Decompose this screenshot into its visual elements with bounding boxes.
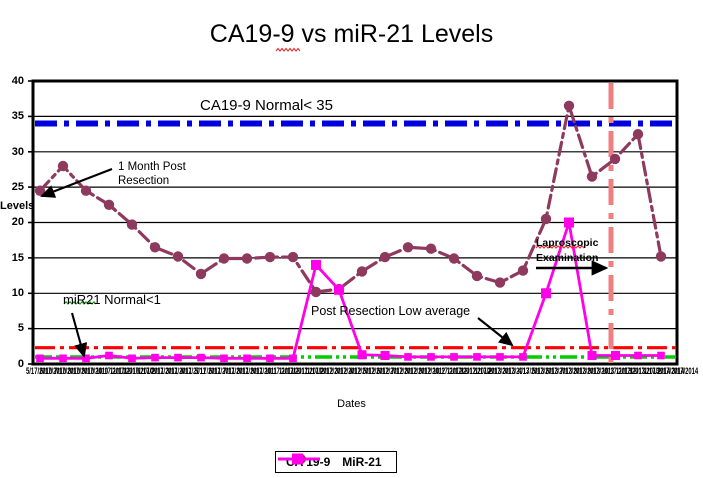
annotation-one-month-post-resection: 1 Month Post Resection [118,160,186,188]
legend-label-mir-21: MiR-21 [342,455,381,469]
annotation-laproscopic-examination: Laproscopic Examination [536,236,598,266]
y-tick-marks [28,81,33,364]
y-tick-label-15: 15 [0,252,24,264]
y-tick-label-40: 40 [0,75,24,87]
x-tick-label: 3/17/2014 [672,366,698,377]
y-tick-label-30: 30 [0,146,24,158]
annotation-one-month-line2: Resection [118,174,186,188]
legend-item-mir-21[interactable]: MiR-21 [338,455,389,469]
chart-container: CA19-9 vs miR-21 Levels [0,0,703,478]
y-tick-label-25: 25 [0,181,24,193]
y-tick-label-20: 20 [0,216,24,228]
annotation-one-month-line1: 1 Month Post [118,160,186,174]
chart-title-text: CA19-9 vs miR-21 Levels [210,20,493,48]
annotation-post-resection-low-average: Post Resection Low average [311,304,470,318]
x-axis-title: Dates [0,398,703,410]
plot-frame [33,81,677,364]
y-tick-label-5: 5 [0,322,24,334]
annotation-arrow-mir21-normal [72,313,84,356]
chart-legend: CA 19-9 MiR-21 [275,451,397,473]
annotation-arrow-one-month-post-resection [42,169,112,196]
legend-swatch-mir-21 [276,452,322,466]
annotation-arrow-post-resection-low-average [478,318,512,345]
annotation-ca19-9-normal: CA19-9 Normal< 35 [200,97,333,114]
y-tick-label-10: 10 [0,287,24,299]
y-tick-label-35: 35 [0,110,24,122]
y-axis-title: Levels [0,200,34,212]
y-tick-label-0: 0 [0,358,24,370]
annotation-mir21-normal: miR21 Normal<1 [63,293,161,307]
series-ca-19-9 [35,101,666,297]
annotation-laproscopic-line2: Examination [536,251,598,266]
series-ca-19-9-markers [35,101,666,297]
chart-title: CA19-9 vs miR-21 Levels [0,20,703,49]
annotation-laproscopic-line1: Laproscopic [536,236,598,251]
